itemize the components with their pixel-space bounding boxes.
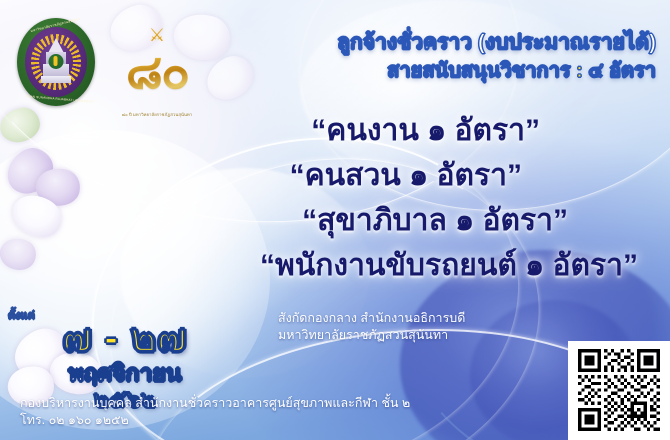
- affiliation-block: สังกัดกองกลาง สำนักงานอธิการบดี มหาวิทยา…: [278, 310, 578, 344]
- position-item: “คนงาน ๑ อัตรา”: [0, 108, 652, 153]
- contact-block: กองบริหารงานบุคคล สำนักงานชั่วคราวอาคารศ…: [20, 395, 550, 429]
- positions-list: “คนงาน ๑ อัตรา” “คนสวน ๑ อัตรา” “สุขาภิบ…: [0, 108, 670, 288]
- date-prefix-label: ตั้งแต่: [8, 306, 35, 324]
- position-item: “สุขาภิบาล ๑ อัตรา”: [0, 198, 652, 243]
- affiliation-line2: มหาวิทยาลัยราชภัฏสวนสุนันทา: [278, 327, 578, 344]
- position-item: “คนสวน ๑ อัตรา”: [0, 153, 652, 198]
- contact-office-line: กองบริหารงานบุคคล สำนักงานชั่วคราวอาคารศ…: [20, 395, 550, 412]
- date-day-range: ๗ - ๒๗: [0, 318, 250, 360]
- position-item: “พนักงานขับรถยนต์ ๑ อัตรา”: [0, 243, 652, 288]
- seal-emblem-orb-icon: [49, 54, 64, 69]
- anniversary-logo: ⚔ ๘๐ ๘๐ ปี มหาวิทยาลัยราชภัฏสวนสุนันทา: [98, 26, 216, 118]
- seal-ring-text-top: มหาวิทยาลัยราชภัฏสวนสุนันทา: [30, 17, 80, 34]
- header-title-line2: สายสนับสนุนวิชาการ : ๔ อัตรา: [226, 58, 656, 84]
- header-title-line1: ลูกจ้างชั่วคราว (งบประมาณรายได้): [226, 30, 656, 56]
- qr-code-panel[interactable]: [568, 341, 670, 440]
- poster-header: ลูกจ้างชั่วคราว (งบประมาณรายได้) สายสนับ…: [226, 30, 656, 84]
- thai-crown-icon: ⚔: [149, 26, 165, 44]
- affiliation-line1: สังกัดกองกลาง สำนักงานอธิการบดี: [278, 310, 578, 327]
- seal-ring-text-bottom: SUAN SUNANDHA RAJABHAT UNIVERSITY: [26, 94, 94, 104]
- ssru-university-seal: มหาวิทยาลัยราชภัฏสวนสุนันทา SUAN SUNANDH…: [17, 18, 95, 106]
- date-month: พฤศจิกายน: [0, 360, 250, 386]
- anniversary-number: ๘๐: [104, 44, 210, 102]
- job-announcement-poster: มหาวิทยาลัยราชภัฏสวนสุนันทา SUAN SUNANDH…: [0, 0, 670, 440]
- qr-code[interactable]: [576, 349, 662, 431]
- contact-phone-line: โทร. ๐๒ ๑๖๐ ๑๒๕๒: [20, 412, 550, 429]
